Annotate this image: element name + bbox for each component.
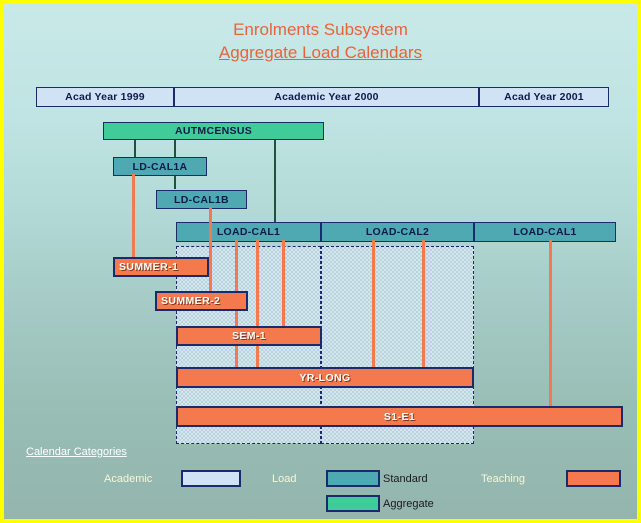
calendar-label: LD-CAL1B <box>174 194 229 206</box>
calendar-label: LD-CAL1A <box>133 161 188 173</box>
teaching-bar-label: S1-E1 <box>384 411 415 423</box>
connector-autmcensus-to-loadcal1 <box>274 137 276 222</box>
marker-line-loadcal1-c <box>282 240 285 336</box>
teaching-bar-label: SUMMER-2 <box>161 295 220 307</box>
legend-swatch-standard-label: Standard <box>383 473 428 485</box>
year-segment-2000: Academic Year 2000 <box>174 87 479 107</box>
year-segment-1999: Acad Year 1999 <box>36 87 174 107</box>
legend-swatch-aggregate-label: Aggregate <box>383 498 434 510</box>
calendar-box-autmcensus[interactable]: AUTMCENSUS <box>103 122 324 140</box>
legend-swatch-teaching <box>566 470 621 487</box>
legend-heading: Calendar Categories <box>26 446 127 458</box>
year-segment-label: Acad Year 2001 <box>504 91 584 103</box>
legend-group-load-label: Load <box>272 473 296 485</box>
page-title: Enrolments Subsystem Aggregate Load Cale… <box>4 18 637 64</box>
marker-line-loadcal1-right <box>549 240 552 408</box>
calendar-label: LOAD-CAL1 <box>513 226 576 238</box>
calendar-box-ld-cal1a[interactable]: LD-CAL1A <box>113 157 207 176</box>
marker-line-ldcal1a <box>132 174 135 260</box>
teaching-bar-s1-e1[interactable]: S1-E1 <box>176 406 623 427</box>
legend-group-teaching-label: Teaching <box>481 473 525 485</box>
calendar-label: LOAD-CAL2 <box>366 226 429 238</box>
diagram-canvas: Enrolments Subsystem Aggregate Load Cale… <box>4 4 637 519</box>
title-line-2: Aggregate Load Calendars <box>4 41 637 64</box>
legend-group-academic-label: Academic <box>104 473 152 485</box>
calendar-label: LOAD-CAL1 <box>217 226 280 238</box>
legend-swatch-academic <box>181 470 241 487</box>
teaching-bar-yr-long[interactable]: YR-LONG <box>176 367 474 388</box>
teaching-bar-sem-1[interactable]: SEM-1 <box>176 326 322 346</box>
title-line-1: Enrolments Subsystem <box>4 18 637 41</box>
calendar-box-ld-cal1b[interactable]: LD-CAL1B <box>156 190 247 209</box>
teaching-bar-summer-2[interactable]: SUMMER-2 <box>155 291 248 311</box>
legend-swatch-load-standard <box>326 470 380 487</box>
marker-line-loadcal2-a <box>372 240 375 376</box>
teaching-bar-label: YR-LONG <box>299 372 350 384</box>
marker-line-loadcal1-b <box>256 240 259 376</box>
year-segment-label: Acad Year 1999 <box>65 91 145 103</box>
marker-line-ldcal1b <box>209 207 212 300</box>
teaching-bar-summer-1[interactable]: SUMMER-1 <box>113 257 209 277</box>
legend-swatch-load-aggregate <box>326 495 380 512</box>
calendar-box-load-cal1-a[interactable]: LOAD-CAL1 <box>176 222 321 242</box>
year-segment-label: Academic Year 2000 <box>274 91 378 103</box>
year-segment-2001: Acad Year 2001 <box>479 87 609 107</box>
marker-line-loadcal2-b <box>422 240 425 376</box>
teaching-bar-label: SUMMER-1 <box>119 261 178 273</box>
teaching-bar-label: SEM-1 <box>232 330 266 342</box>
calendar-box-load-cal1-b[interactable]: LOAD-CAL1 <box>474 222 616 242</box>
calendar-box-load-cal2[interactable]: LOAD-CAL2 <box>321 222 474 242</box>
calendar-label: AUTMCENSUS <box>175 125 252 137</box>
